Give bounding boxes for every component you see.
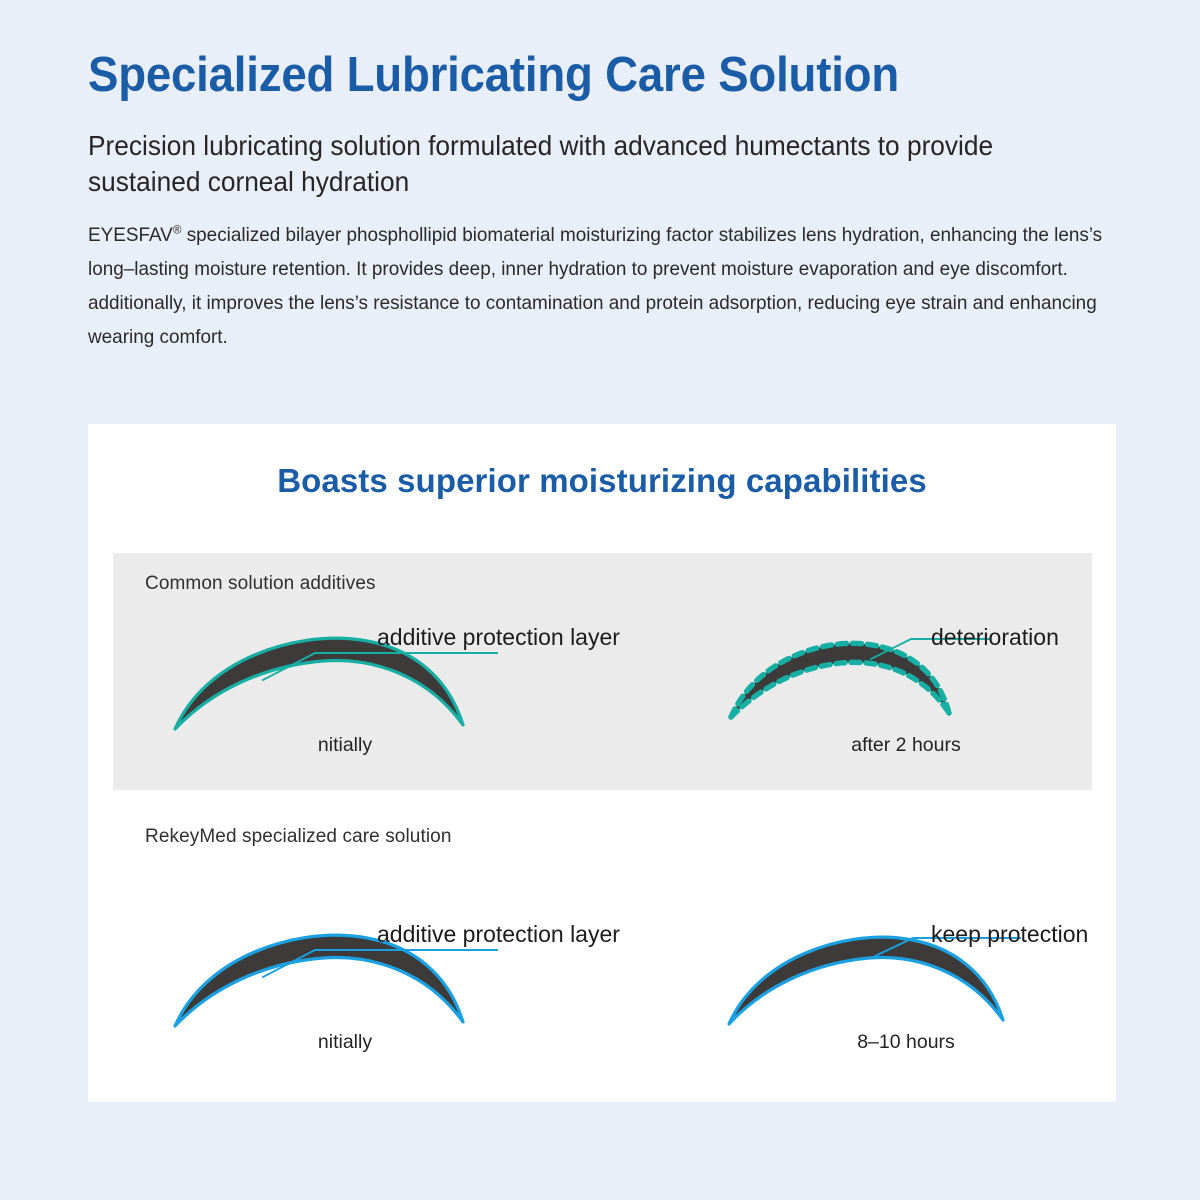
- page-body-text: EYESFAV® specialized bilayer phosphollip…: [88, 199, 1114, 355]
- callout-additive-protection-layer: additive protection layer: [377, 626, 620, 649]
- page-subtitle: Precision lubricating solution formulate…: [88, 102, 1102, 200]
- body-rest: specialized bilayer phosphollipid biomat…: [88, 224, 1102, 348]
- caption-8-10-hours: 8–10 hours: [815, 1031, 997, 1054]
- figure-rekeymed-initial: additive protection layer nitially: [141, 814, 621, 1089]
- figure-rekeymed-8-10-hours: keep protection 8–10 hours: [613, 814, 1092, 1089]
- figure-common-after-2-hours: deterioration after 2 hours: [613, 553, 1092, 790]
- callout-deterioration: deterioration: [931, 626, 1059, 649]
- caption-initially: nitially: [265, 1031, 425, 1054]
- callout-keep-protection: keep protection: [931, 923, 1088, 946]
- callout-additive-protection-layer: additive protection layer: [377, 923, 620, 946]
- panel-rekeymed-specialized-care-solution: RekeyMed specialized care solution addit…: [113, 814, 1092, 1089]
- page-header: Specialized Lubricating Care Solution Pr…: [88, 50, 1148, 355]
- caption-after-2-hours: after 2 hours: [815, 734, 997, 757]
- comparison-card: Boasts superior moisturizing capabilitie…: [88, 424, 1116, 1102]
- panel-common-solution-additives: Common solution additives additive prote…: [113, 553, 1092, 790]
- card-heading: Boasts superior moisturizing capabilitie…: [88, 462, 1116, 500]
- caption-initially: nitially: [265, 734, 425, 757]
- brand-name: EYESFAV: [88, 224, 173, 246]
- page-title: Specialized Lubricating Care Solution: [88, 50, 1074, 102]
- figure-common-initial: additive protection layer nitially: [141, 553, 621, 790]
